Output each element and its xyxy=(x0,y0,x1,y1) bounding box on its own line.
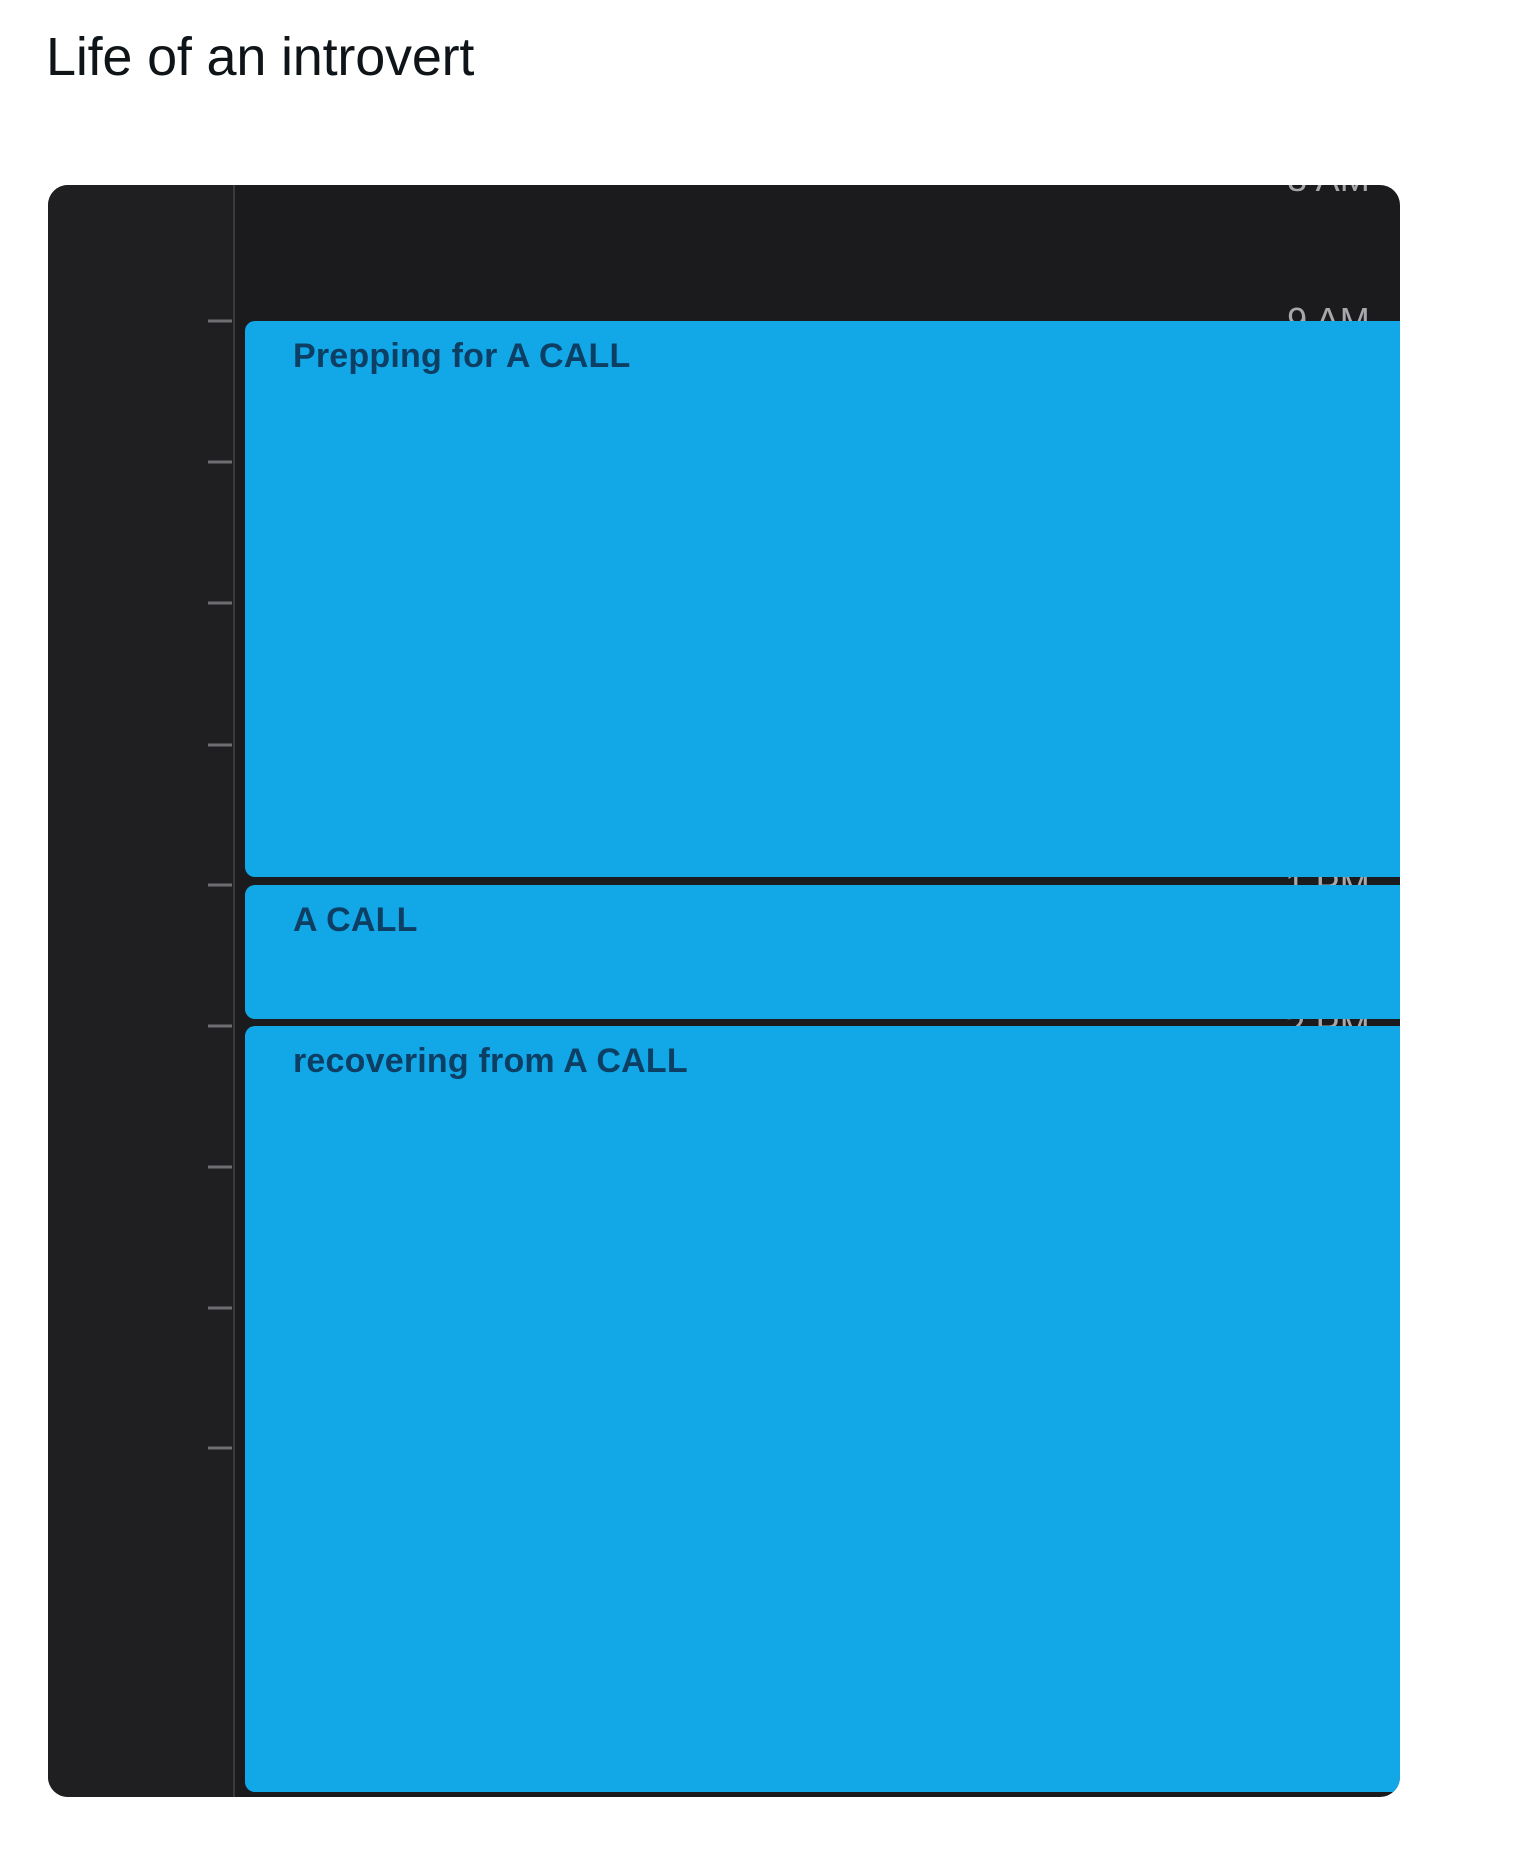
hour-tick-5pm xyxy=(208,1447,232,1450)
hour-tick-1pm xyxy=(208,884,232,887)
calendar-event-recovering[interactable]: recovering from A CALL xyxy=(245,1026,1400,1792)
time-gutter xyxy=(48,185,233,1797)
calendar-event-a-call[interactable]: A CALL xyxy=(245,885,1400,1019)
calendar-panel: 8 AM 9 AM 10 AM 11 AM 12 PM 1 PM 2 PM 3 … xyxy=(48,185,1400,1797)
event-title: recovering from A CALL xyxy=(293,1042,1400,1081)
calendar-event-prepping[interactable]: Prepping for A CALL xyxy=(245,321,1400,877)
event-title: A CALL xyxy=(293,901,1400,940)
event-grid: Prepping for A CALL A CALL recovering fr… xyxy=(235,185,1400,1797)
page-title: Life of an introvert xyxy=(46,28,474,87)
hour-tick-2pm xyxy=(208,1025,232,1028)
hour-tick-9am xyxy=(208,320,232,323)
hour-tick-11am xyxy=(208,602,232,605)
hour-tick-4pm xyxy=(208,1307,232,1310)
hour-tick-3pm xyxy=(208,1166,232,1169)
hour-tick-10am xyxy=(208,461,232,464)
event-title: Prepping for A CALL xyxy=(293,337,1400,376)
hour-tick-12pm xyxy=(208,744,232,747)
